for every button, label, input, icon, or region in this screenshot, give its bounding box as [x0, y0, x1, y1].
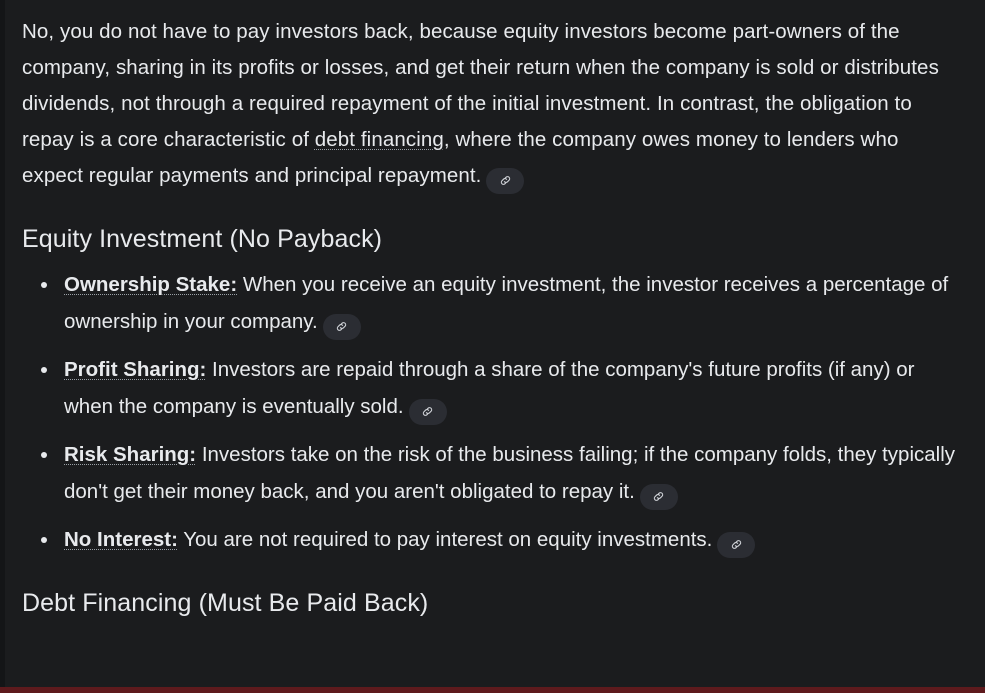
answer-body: No, you do not have to pay investors bac…: [0, 0, 985, 630]
left-edge-strip: [0, 0, 5, 693]
citation-link-badge[interactable]: [717, 532, 755, 558]
link-icon: [334, 319, 349, 334]
list-item: Ownership Stake: When you receive an equ…: [22, 266, 963, 340]
spellchecked-phrase-debt-financing: debt financing: [315, 128, 444, 151]
bottom-red-band: [0, 687, 985, 693]
bullet-dot-icon: [41, 452, 47, 458]
equity-bullet-list: Ownership Stake: When you receive an equ…: [22, 266, 963, 558]
section-heading-equity: Equity Investment (No Payback): [22, 222, 963, 256]
citation-link-badge[interactable]: [486, 168, 524, 194]
list-item: Risk Sharing: Investors take on the risk…: [22, 436, 963, 510]
link-icon: [729, 537, 744, 552]
bullet-body-text: You are not required to pay interest on …: [178, 528, 712, 551]
citation-link-badge[interactable]: [323, 314, 361, 340]
citation-link-badge[interactable]: [640, 484, 678, 510]
bullet-dot-icon: [41, 282, 47, 288]
link-icon: [498, 173, 513, 188]
list-item: No Interest: You are not required to pay…: [22, 521, 963, 558]
section-heading-debt: Debt Financing (Must Be Paid Back): [22, 586, 963, 620]
bullet-lead-label: Ownership Stake:: [64, 273, 237, 296]
link-icon: [420, 404, 435, 419]
bullet-dot-icon: [41, 367, 47, 373]
link-icon: [651, 489, 666, 504]
bullet-dot-icon: [41, 537, 47, 543]
intro-paragraph: No, you do not have to pay investors bac…: [22, 14, 963, 194]
bullet-lead-label: No Interest:: [64, 528, 178, 551]
bullet-lead-label: Risk Sharing:: [64, 443, 196, 466]
citation-link-badge[interactable]: [409, 399, 447, 425]
bullet-body-text: Investors take on the risk of the busine…: [64, 443, 955, 503]
bullet-lead-label: Profit Sharing:: [64, 358, 206, 381]
list-item: Profit Sharing: Investors are repaid thr…: [22, 351, 963, 425]
